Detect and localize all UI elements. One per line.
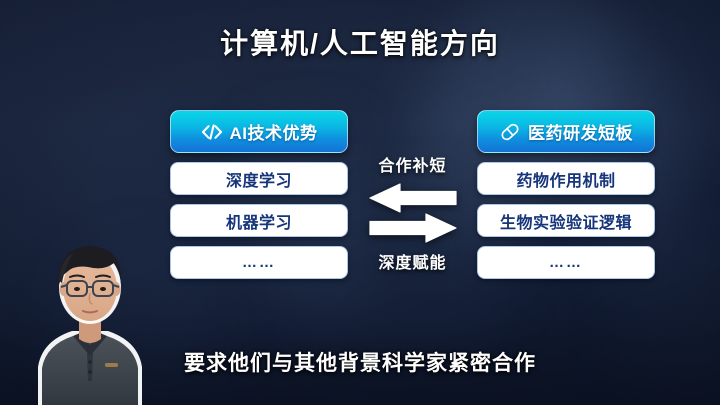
list-item[interactable]: 深度学习 (170, 162, 348, 195)
bidirectional-arrows (355, 182, 470, 244)
exchange-bottom-label: 深度赋能 (355, 249, 470, 273)
exchange-group: 合作补短 深度赋能 (355, 152, 470, 273)
list-item[interactable]: 药物作用机制 (477, 162, 655, 195)
left-column-header-label: AI技术优势 (230, 119, 318, 144)
arrow-left-icon (370, 184, 456, 212)
code-icon (201, 124, 223, 140)
list-item[interactable]: …… (477, 246, 655, 279)
left-column: AI技术优势 深度学习 机器学习 …… (170, 110, 348, 279)
exchange-top-label: 合作补短 (355, 152, 470, 176)
right-column: 医药研发短板 药物作用机制 生物实验验证逻辑 …… (477, 110, 655, 279)
list-item[interactable]: …… (170, 246, 348, 279)
arrow-right-icon (370, 214, 456, 242)
right-column-header[interactable]: 医药研发短板 (477, 110, 655, 153)
left-column-header[interactable]: AI技术优势 (170, 110, 348, 153)
list-item[interactable]: 机器学习 (170, 204, 348, 237)
slide-canvas: 计算机/人工智能方向 AI技术优势 深度学习 机器学习 …… (0, 0, 720, 405)
capsule-icon (499, 122, 521, 142)
right-column-header-label: 医药研发短板 (528, 119, 633, 144)
presenter-overlay (10, 215, 170, 405)
page-title: 计算机/人工智能方向 (0, 22, 720, 62)
list-item[interactable]: 生物实验验证逻辑 (477, 204, 655, 237)
